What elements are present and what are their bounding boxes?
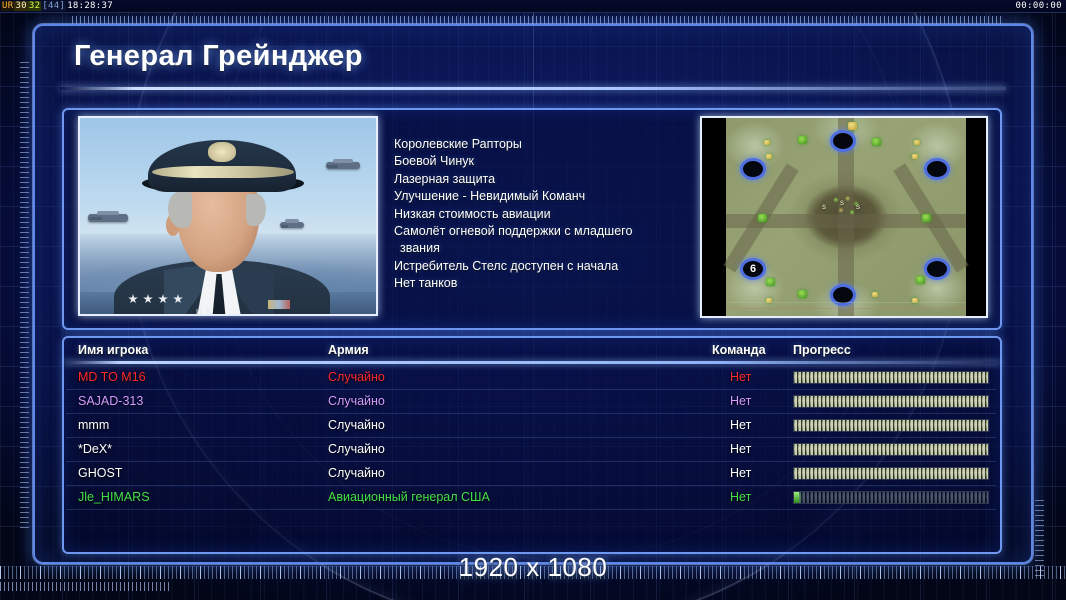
map-resource-icon	[872, 138, 881, 146]
progress-bar	[793, 419, 989, 432]
hud-stats: UR3032[44]18:28:37	[1, 1, 114, 12]
performance-hud: UR3032[44]18:28:37 00:00:00	[0, 0, 1066, 13]
hud-stat-b: 32	[28, 1, 41, 11]
map-supply-marker: s	[840, 198, 844, 207]
map-boundary-line	[726, 308, 966, 309]
resolution-caption: 1920 x 1080	[0, 552, 1066, 583]
map-resource-icon	[798, 136, 807, 144]
ability-item: Истребитель Стелс доступен с начала	[394, 258, 724, 275]
table-row[interactable]: Jle_HIMARSАвиационный генерал СШАНет	[64, 486, 1000, 510]
progress-bar	[793, 395, 989, 408]
aircraft-icon	[280, 222, 304, 228]
map-resource-icon	[766, 278, 775, 286]
general-info-panel: U.S. Королевские Рапторы Боевой Чинук Ла…	[62, 108, 1002, 330]
hud-clock: 18:28:37	[66, 1, 114, 11]
page-title: Генерал Грейнджер	[74, 40, 363, 73]
eagle-emblem-icon	[208, 142, 236, 162]
rank-stars-icon	[128, 294, 188, 306]
map-resource-icon	[922, 214, 931, 222]
column-header-player: Имя игрока	[78, 343, 148, 357]
player-name: *DeX*	[78, 442, 112, 456]
player-name: Jle_HIMARS	[78, 490, 150, 504]
map-boundary-line	[726, 302, 966, 303]
ability-item: Самолёт огневой поддержки с младшего	[394, 223, 724, 240]
player-army: Авиационный генерал США	[328, 490, 490, 504]
table-row[interactable]: SAJAD-313СлучайноНет	[64, 390, 1000, 414]
map-supply-marker: s	[856, 202, 860, 211]
player-team: Нет	[730, 394, 751, 408]
player-team: Нет	[730, 490, 751, 504]
hud-stat-c: [44]	[41, 1, 66, 11]
portrait-hair-left	[168, 192, 192, 228]
map-resource-icon	[764, 140, 770, 145]
player-name: mmm	[78, 418, 109, 432]
player-army: Случайно	[328, 442, 385, 456]
progress-bar	[793, 371, 989, 384]
row-divider	[66, 509, 996, 510]
player-team: Нет	[730, 370, 751, 384]
progress-bar-fill	[794, 444, 988, 455]
map-resource-icon	[912, 154, 918, 159]
player-army: Случайно	[328, 466, 385, 480]
table-row[interactable]: GHOSTСлучайноНет	[64, 462, 1000, 486]
map-resource-icon	[766, 154, 772, 159]
hud-fps-label: UR	[1, 1, 14, 11]
progress-bar-fill	[794, 396, 988, 407]
map-terrain: s s s 6	[726, 118, 966, 316]
player-name: GHOST	[78, 466, 122, 480]
aircraft-icon	[88, 214, 128, 222]
map-resource-icon	[916, 276, 925, 284]
hud-stat-a: 30	[14, 1, 27, 11]
column-header-army: Армия	[328, 343, 369, 357]
progress-bar-fill	[794, 420, 988, 431]
portrait-cap-band	[152, 166, 294, 178]
game-setup-screen: UR3032[44]18:28:37 00:00:00 Генерал Грей…	[0, 0, 1066, 600]
medal-ribbon-icon	[268, 300, 290, 309]
progress-bar	[793, 467, 989, 480]
map-resource-icon	[914, 140, 920, 145]
table-row[interactable]: MD TO M16СлучайноНет	[64, 366, 1000, 390]
map-preview: s s s 6	[700, 116, 988, 318]
map-start-position[interactable]	[924, 258, 950, 280]
player-army: Случайно	[328, 370, 385, 384]
progress-bar	[793, 491, 989, 504]
player-team: Нет	[730, 418, 751, 432]
title-divider	[60, 87, 1006, 90]
player-army: Случайно	[328, 418, 385, 432]
column-header-progress: Прогресс	[793, 343, 851, 357]
player-army: Случайно	[328, 394, 385, 408]
medal-ribbon-icon	[288, 314, 306, 316]
us-insignia-label: U.S.	[196, 308, 216, 316]
map-resource-icon	[798, 290, 807, 298]
map-resource-icon	[872, 292, 878, 297]
ability-item: Низкая стоимость авиации	[394, 206, 724, 223]
player-name: SAJAD-313	[78, 394, 143, 408]
progress-bar-fill	[794, 372, 988, 383]
map-start-position[interactable]	[830, 130, 856, 152]
ruler-ticks-left	[20, 62, 29, 532]
general-ability-list: Королевские Рапторы Боевой Чинук Лазерна…	[394, 136, 724, 293]
aircraft-icon	[326, 162, 360, 169]
hud-timer: 00:00:00	[1015, 1, 1062, 12]
progress-bar-fill	[794, 492, 988, 503]
map-start-position-selected[interactable]: 6	[740, 258, 766, 280]
progress-bar	[793, 443, 989, 456]
table-row[interactable]: *DeX*СлучайноНет	[64, 438, 1000, 462]
roster-row-list: MD TO M16СлучайноНетSAJAD-313СлучайноНет…	[64, 366, 1000, 510]
ability-item-continuation: звания	[394, 240, 724, 257]
map-supply-marker: s	[822, 202, 826, 211]
progress-bar-indicator	[794, 492, 799, 503]
map-start-position[interactable]	[924, 158, 950, 180]
player-team: Нет	[730, 466, 751, 480]
ability-item: Улучшение - Невидимый Команч	[394, 188, 724, 205]
map-resource-icon	[758, 214, 767, 222]
player-roster-panel: Имя игрока Армия Команда Прогресс MD TO …	[62, 336, 1002, 554]
progress-bar-fill	[794, 468, 988, 479]
column-header-team: Команда	[712, 343, 766, 357]
map-resource-icon	[848, 122, 857, 130]
general-portrait: U.S.	[78, 116, 378, 316]
ruler-ticks-bottom-left	[0, 582, 170, 591]
ability-item: Нет танков	[394, 275, 724, 292]
player-name: MD TO M16	[78, 370, 146, 384]
ability-item: Королевские Рапторы	[394, 136, 724, 153]
title-bar: Генерал Грейнджер	[60, 38, 1006, 90]
map-start-position[interactable]	[740, 158, 766, 180]
player-team: Нет	[730, 442, 751, 456]
table-row[interactable]: mmmСлучайноНет	[64, 414, 1000, 438]
ability-item: Лазерная защита	[394, 171, 724, 188]
ability-item: Боевой Чинук	[394, 153, 724, 170]
header-divider	[64, 361, 1000, 364]
